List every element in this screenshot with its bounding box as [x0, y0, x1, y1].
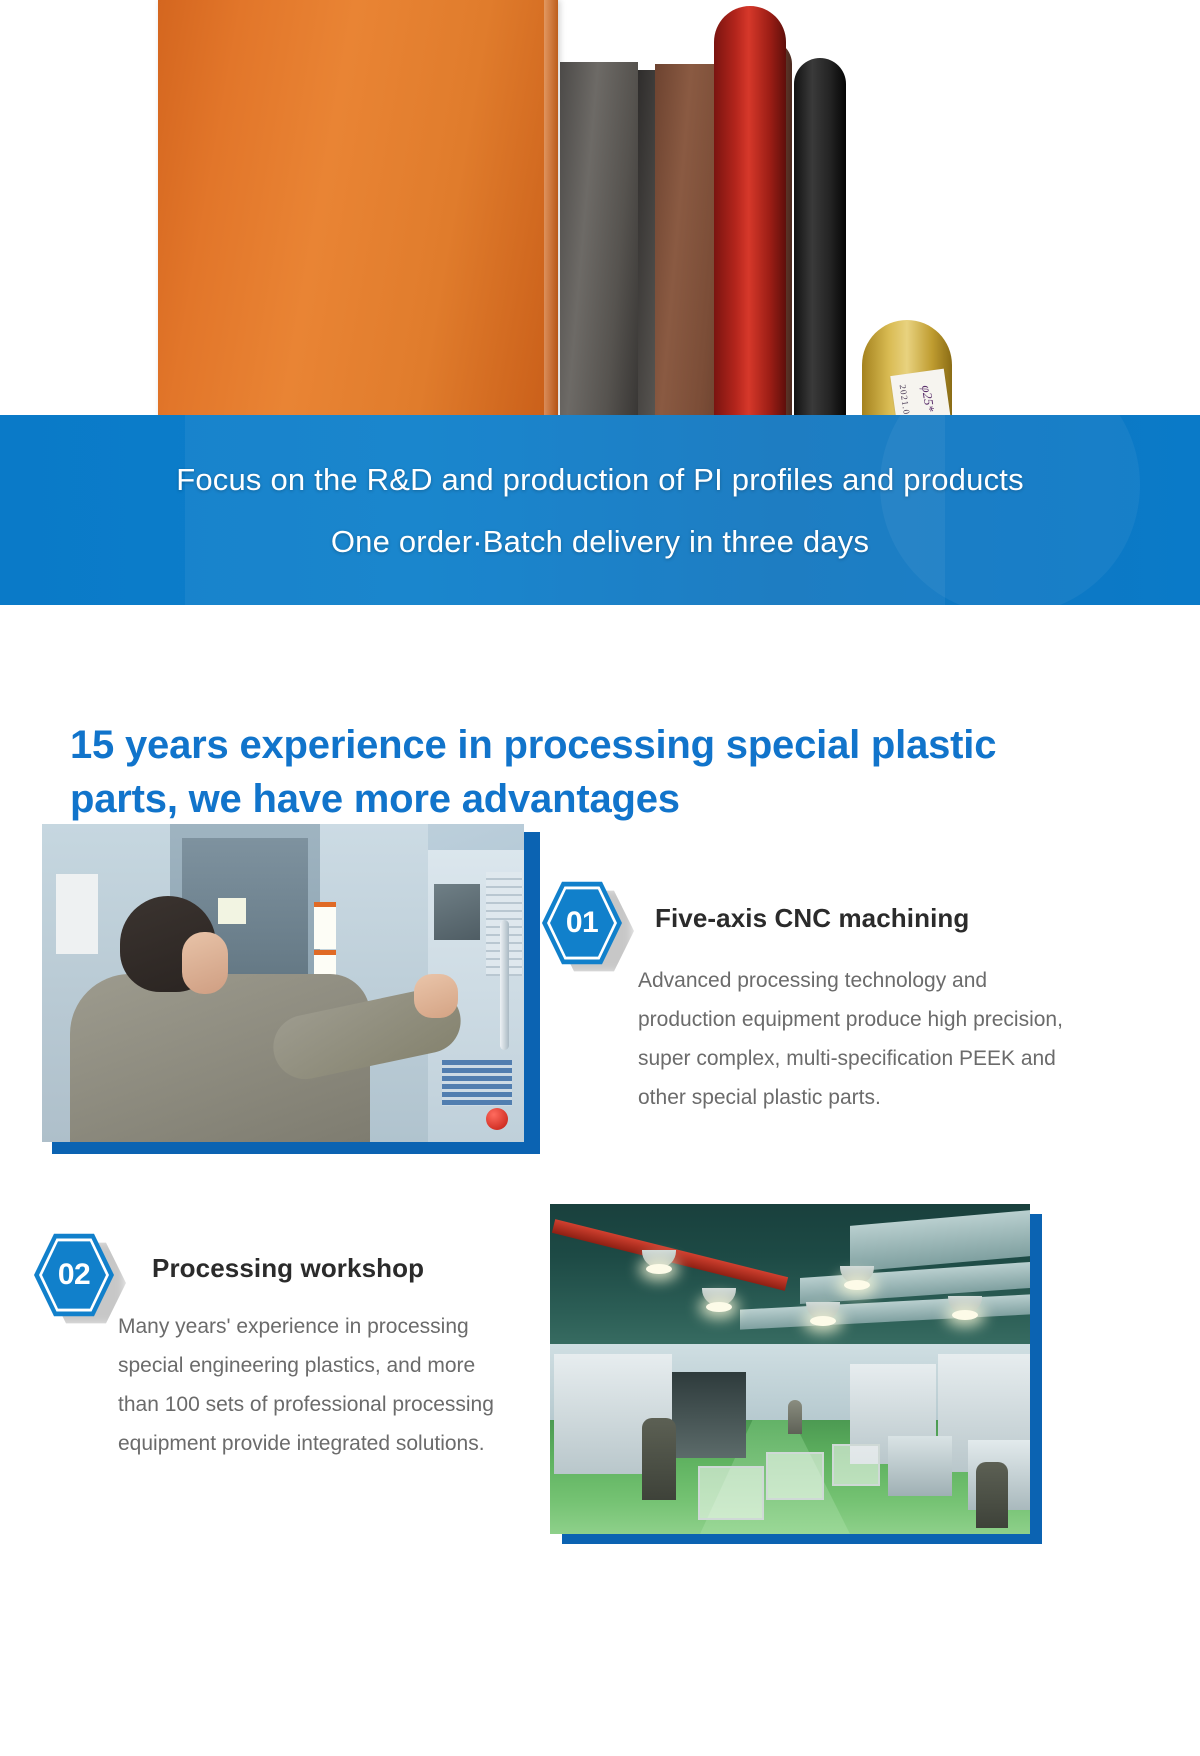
workshop-cart-3 — [832, 1444, 880, 1486]
workshop-cart-2 — [766, 1452, 824, 1500]
workshop-worker-1 — [642, 1418, 676, 1500]
cnc-warning-label-1 — [314, 902, 336, 949]
feature-02-number-badge: 02 — [34, 1232, 114, 1318]
cnc-lower-keypad — [442, 1060, 512, 1106]
operator-face — [182, 932, 228, 994]
feature-02-number: 02 — [34, 1232, 114, 1318]
banner-headline: Focus on the R&D and production of PI pr… — [0, 462, 1200, 498]
feature-01-title: Five-axis CNC machining — [655, 903, 1075, 934]
cnc-panel-handle — [500, 920, 509, 1050]
feature-02-body: Many years' experience in processing spe… — [118, 1308, 518, 1463]
feature-01-photo — [42, 824, 524, 1142]
hero-stage: 2021.03.0 φ25* — [0, 0, 1200, 470]
hero-banner: Focus on the R&D and production of PI pr… — [0, 415, 1200, 605]
red-rod — [714, 6, 786, 416]
feature-02-photo — [550, 1204, 1030, 1534]
hero-product-image: 2021.03.0 φ25* — [0, 0, 1200, 470]
feature-02-title: Processing workshop — [152, 1253, 552, 1284]
workshop-machine-2 — [672, 1372, 746, 1458]
banner-ghost-circle — [880, 415, 1140, 605]
cnc-emergency-stop-button — [486, 1108, 508, 1130]
banner-subline: One order·Batch delivery in three days — [0, 524, 1200, 560]
feature-01-body: Advanced processing technology and produ… — [638, 962, 1068, 1117]
banner-ghost-shape — [185, 415, 945, 605]
gold-label-spec: φ25* — [918, 384, 938, 413]
workshop-cart-1 — [698, 1466, 764, 1520]
feature-01-number: 01 — [542, 880, 622, 966]
feature-01-number-badge: 01 — [542, 880, 622, 966]
cnc-screen — [434, 884, 480, 940]
cnc-label-1 — [218, 898, 246, 924]
feature-02-photo-frame — [550, 1204, 1030, 1534]
feature-01-photo-frame — [42, 824, 530, 1146]
grey-bar — [560, 62, 638, 418]
cnc-paper-sheet — [56, 874, 98, 954]
workshop-worker-3 — [788, 1400, 802, 1434]
section-heading: 15 years experience in processing specia… — [70, 718, 1090, 826]
workshop-machine-5 — [888, 1436, 952, 1496]
operator-hand — [414, 974, 458, 1018]
orange-phenolic-sheet — [158, 0, 558, 418]
workshop-worker-2 — [976, 1462, 1008, 1528]
black-rod — [794, 58, 846, 420]
